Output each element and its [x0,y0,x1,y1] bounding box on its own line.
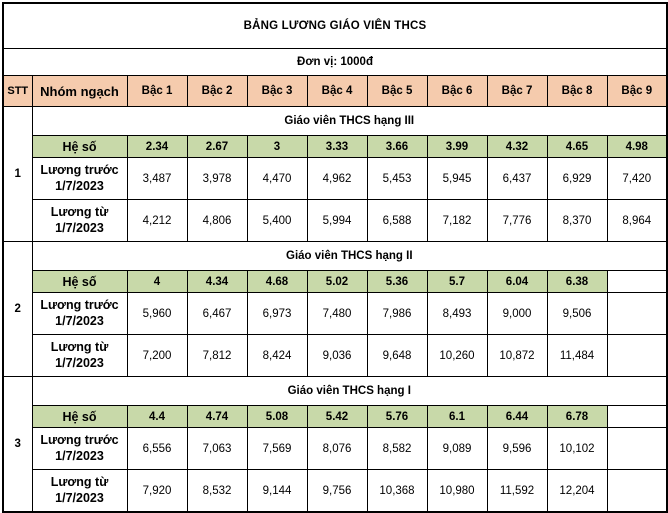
column-header-row: STTNhóm ngạchBậc 1Bậc 2Bậc 3Bậc 4Bậc 5Bậ… [3,76,667,107]
title-row: BẢNG LƯƠNG GIÁO VIÊN THCS [3,3,667,49]
spreadsheet-page: BẢNG LƯƠNG GIÁO VIÊN THCSĐơn vị: 1000đST… [0,2,668,481]
salary-before-value: 6,467 [187,293,247,335]
salary-before-value: 7,063 [187,428,247,470]
column-header-b2[interactable]: Bậc 2 [187,76,247,107]
salary-before-row: Lương trước1/7/20236,5567,0637,5698,0768… [3,428,667,470]
salary-before-value: 9,596 [487,428,547,470]
coefficient-value: 4.98 [607,136,667,158]
coefficient-value: 6.38 [547,271,607,293]
section-index-2: 2 [3,242,32,377]
column-header-b6[interactable]: Bậc 6 [427,76,487,107]
salary-table: BẢNG LƯƠNG GIÁO VIÊN THCSĐơn vị: 1000đST… [2,2,668,513]
salary-from-row: Lương từ1/7/20237,2007,8128,4249,0369,64… [3,335,667,377]
coefficient-value: 4.32 [487,136,547,158]
salary-before-value: 6,929 [547,158,607,200]
row-label-line2: 1/7/2023 [55,449,104,463]
salary-from-value: 11,592 [487,470,547,513]
salary-from-value: 10,368 [367,470,427,513]
column-header-b3[interactable]: Bậc 3 [247,76,307,107]
row-label-salary-from: Lương từ1/7/2023 [32,200,127,242]
salary-from-value: 9,648 [367,335,427,377]
row-label-salary-from: Lương từ1/7/2023 [32,470,127,513]
row-label-line2: 1/7/2023 [55,314,104,328]
salary-from-value: 7,776 [487,200,547,242]
coefficient-row: Hệ số2.342.6733.333.663.994.324.654.98 [3,136,667,158]
row-label-line1: Lương trước [40,433,118,447]
coefficient-value: 6.1 [427,406,487,428]
salary-before-row: Lương trước1/7/20235,9606,4676,9737,4807… [3,293,667,335]
row-label-coefficient: Hệ số [32,271,127,293]
row-label-line1: Lương trước [40,298,118,312]
salary-from-row: Lương từ1/7/20237,9208,5329,1449,75610,3… [3,470,667,513]
salary-before-value: 4,470 [247,158,307,200]
coefficient-value: 5.7 [427,271,487,293]
page-title: BẢNG LƯƠNG GIÁO VIÊN THCS [3,3,667,49]
coefficient-value [607,271,667,293]
salary-before-value: 5,453 [367,158,427,200]
coefficient-value: 2.34 [127,136,187,158]
salary-from-row: Lương từ1/7/20234,2124,8065,4005,9946,58… [3,200,667,242]
section-heading-row: 2Giáo viên THCS hạng II [3,242,667,271]
salary-from-value: 7,182 [427,200,487,242]
column-header-stt[interactable]: STT [3,76,32,107]
coefficient-value: 4.65 [547,136,607,158]
salary-before-value: 8,076 [307,428,367,470]
coefficient-value: 3.99 [427,136,487,158]
salary-from-value: 4,212 [127,200,187,242]
coefficient-value: 5.02 [307,271,367,293]
salary-before-value: 3,487 [127,158,187,200]
row-label-line2: 1/7/2023 [55,356,104,370]
salary-from-value: 5,400 [247,200,307,242]
salary-from-value: 10,980 [427,470,487,513]
salary-from-value: 8,964 [607,200,667,242]
coefficient-value: 5.08 [247,406,307,428]
column-header-b9[interactable]: Bậc 9 [607,76,667,107]
column-header-b5[interactable]: Bậc 5 [367,76,427,107]
coefficient-value: 6.78 [547,406,607,428]
salary-from-value: 8,370 [547,200,607,242]
section-heading: Giáo viên THCS hạng III [32,107,667,136]
row-label-salary-before: Lương trước1/7/2023 [32,158,127,200]
salary-before-value [607,293,667,335]
unit-row: Đơn vị: 1000đ [3,49,667,76]
salary-before-value: 7,986 [367,293,427,335]
salary-from-value: 10,872 [487,335,547,377]
unit-note: Đơn vị: 1000đ [3,49,667,76]
salary-from-value: 9,144 [247,470,307,513]
salary-from-value: 11,484 [547,335,607,377]
salary-before-value: 6,437 [487,158,547,200]
section-index-1: 1 [3,107,32,242]
section-index-3: 3 [3,377,32,513]
salary-before-value: 6,556 [127,428,187,470]
row-label-line1: Lương từ [51,340,109,354]
salary-from-value: 12,204 [547,470,607,513]
column-header-b7[interactable]: Bậc 7 [487,76,547,107]
row-label-line2: 1/7/2023 [55,221,104,235]
salary-before-value: 6,973 [247,293,307,335]
coefficient-value: 2.67 [187,136,247,158]
section-heading-row: 3Giáo viên THCS hạng I [3,377,667,406]
row-label-coefficient: Hệ số [32,136,127,158]
salary-before-value: 8,582 [367,428,427,470]
salary-from-value: 9,756 [307,470,367,513]
column-header-nhom[interactable]: Nhóm ngạch [32,76,127,107]
salary-before-value: 4,962 [307,158,367,200]
coefficient-value: 3.33 [307,136,367,158]
row-label-line2: 1/7/2023 [55,179,104,193]
salary-before-value: 3,978 [187,158,247,200]
coefficient-value [607,406,667,428]
coefficient-value: 3.66 [367,136,427,158]
salary-before-row: Lương trước1/7/20233,4873,9784,4704,9625… [3,158,667,200]
salary-before-value: 7,569 [247,428,307,470]
salary-before-value: 10,102 [547,428,607,470]
row-label-salary-from: Lương từ1/7/2023 [32,335,127,377]
column-header-b4[interactable]: Bậc 4 [307,76,367,107]
coefficient-value: 5.42 [307,406,367,428]
salary-from-value: 4,806 [187,200,247,242]
coefficient-value: 5.76 [367,406,427,428]
salary-before-value: 8,493 [427,293,487,335]
salary-from-value: 5,994 [307,200,367,242]
row-label-line2: 1/7/2023 [55,491,104,505]
salary-before-value [607,428,667,470]
salary-from-value: 7,200 [127,335,187,377]
section-heading-row: 1Giáo viên THCS hạng III [3,107,667,136]
coefficient-value: 6.44 [487,406,547,428]
coefficient-value: 4.34 [187,271,247,293]
salary-from-value: 8,424 [247,335,307,377]
row-label-line1: Lương từ [51,205,109,219]
coefficient-value: 3 [247,136,307,158]
salary-before-value: 7,420 [607,158,667,200]
salary-before-value: 9,506 [547,293,607,335]
coefficient-value: 5.36 [367,271,427,293]
coefficient-value: 6.04 [487,271,547,293]
row-label-line1: Lương trước [40,163,118,177]
salary-from-value: 9,036 [307,335,367,377]
coefficient-row: Hệ số4.44.745.085.425.766.16.446.78 [3,406,667,428]
section-heading: Giáo viên THCS hạng II [32,242,667,271]
salary-from-value: 7,812 [187,335,247,377]
salary-from-value: 6,588 [367,200,427,242]
salary-from-value [607,335,667,377]
salary-from-value: 7,920 [127,470,187,513]
row-label-salary-before: Lương trước1/7/2023 [32,293,127,335]
row-label-coefficient: Hệ số [32,406,127,428]
coefficient-value: 4.74 [187,406,247,428]
salary-from-value [607,470,667,513]
salary-from-value: 8,532 [187,470,247,513]
column-header-b1[interactable]: Bậc 1 [127,76,187,107]
salary-before-value: 9,089 [427,428,487,470]
salary-before-value: 5,960 [127,293,187,335]
section-heading: Giáo viên THCS hạng I [32,377,667,406]
salary-from-value: 10,260 [427,335,487,377]
row-label-salary-before: Lương trước1/7/2023 [32,428,127,470]
coefficient-value: 4 [127,271,187,293]
salary-before-value: 7,480 [307,293,367,335]
coefficient-value: 4.4 [127,406,187,428]
coefficient-row: Hệ số44.344.685.025.365.76.046.38 [3,271,667,293]
row-label-line1: Lương từ [51,475,109,489]
column-header-b8[interactable]: Bậc 8 [547,76,607,107]
coefficient-value: 4.68 [247,271,307,293]
salary-before-value: 9,000 [487,293,547,335]
salary-before-value: 5,945 [427,158,487,200]
